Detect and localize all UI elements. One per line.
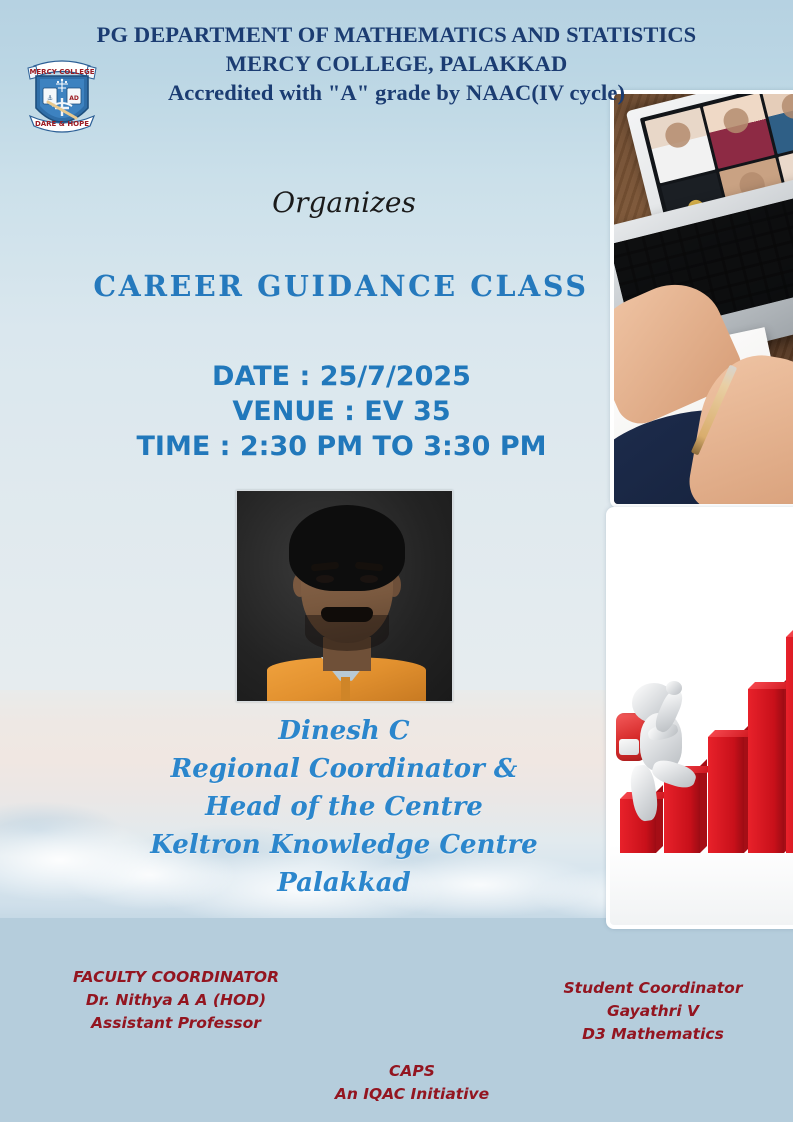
- faculty-coordinator-name: Dr. Nithya A A (HOD): [52, 989, 300, 1012]
- speaker-organization: Keltron Knowledge Centre: [0, 826, 688, 864]
- faculty-coordinator-title: FACULTY COORDINATOR: [52, 966, 300, 989]
- program-subtitle: An IQAC Initiative: [297, 1083, 527, 1106]
- student-coordinator-class: D3 Mathematics: [538, 1023, 768, 1046]
- speaker-portrait-photo: [236, 490, 453, 702]
- header-department-line: PG DEPARTMENT OF MATHEMATICS AND STATIST…: [0, 20, 793, 49]
- svg-text:AD: AD: [69, 95, 79, 102]
- program-block: CAPS An IQAC Initiative: [297, 1060, 527, 1106]
- speaker-place: Palakkad: [0, 864, 688, 902]
- program-name: CAPS: [297, 1060, 527, 1083]
- portrait-hair: [289, 505, 405, 591]
- chart-bar: [786, 637, 793, 853]
- participant-tile: [645, 107, 716, 182]
- portrait-right-eye: [360, 575, 378, 583]
- event-details: DATE : 25/7/2025 VENUE : EV 35 TIME : 2:…: [0, 359, 683, 464]
- event-date: DATE : 25/7/2025: [0, 359, 683, 394]
- climbing-figure-fist: [666, 681, 682, 695]
- college-crest-icon: MERCY COLLEGE ⚓ AD DARE & HOPE: [14, 56, 110, 148]
- header-accreditation-line: Accredited with "A" grade by NAAC(IV cyc…: [0, 78, 793, 107]
- portrait-shirt-placket: [341, 677, 350, 702]
- student-coordinator-block: Student Coordinator Gayathri V D3 Mathem…: [538, 977, 768, 1046]
- event-time: TIME : 2:30 PM TO 3:30 PM: [0, 429, 683, 464]
- chart-bar: [748, 689, 784, 853]
- chart-bar: [708, 737, 744, 853]
- speaker-name: Dinesh C: [0, 712, 688, 750]
- svg-text:MERCY COLLEGE: MERCY COLLEGE: [29, 68, 94, 76]
- student-coordinator-title: Student Coordinator: [538, 977, 768, 1000]
- portrait-moustache: [321, 607, 373, 622]
- faculty-coordinator-designation: Assistant Professor: [52, 1012, 300, 1035]
- faculty-coordinator-block: FACULTY COORDINATOR Dr. Nithya A A (HOD)…: [52, 966, 300, 1035]
- event-venue: VENUE : EV 35: [0, 394, 683, 429]
- student-coordinator-name: Gayathri V: [538, 1000, 768, 1023]
- speaker-role-2: Head of the Centre: [0, 788, 688, 826]
- poster-canvas: PG DEPARTMENT OF MATHEMATICS AND STATIST…: [0, 0, 793, 1122]
- portrait-left-eye: [316, 575, 334, 583]
- event-title: CAREER GUIDANCE CLASS: [0, 269, 682, 303]
- organizes-label: Organizes: [0, 186, 688, 219]
- header-college-line: MERCY COLLEGE, PALAKKAD: [0, 49, 793, 78]
- speaker-info: Dinesh C Regional Coordinator & Head of …: [0, 712, 688, 902]
- speaker-role-1: Regional Coordinator &: [0, 750, 688, 788]
- svg-text:DARE & HOPE: DARE & HOPE: [35, 120, 89, 128]
- poster-header: PG DEPARTMENT OF MATHEMATICS AND STATIST…: [0, 20, 793, 107]
